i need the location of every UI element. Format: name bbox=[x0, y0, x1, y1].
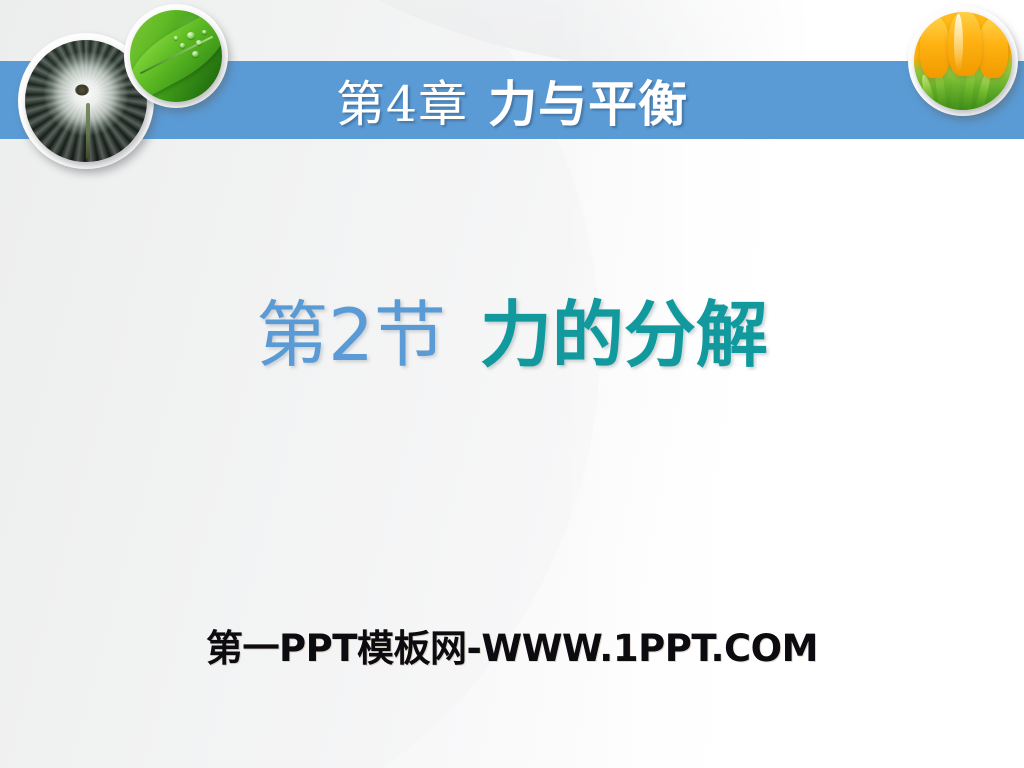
water-droplet-icon bbox=[192, 51, 199, 57]
orange-tulip-photo-icon bbox=[914, 12, 1012, 110]
tulip-petal-shape bbox=[978, 18, 1008, 78]
section-number-label: 第2节 bbox=[256, 293, 446, 377]
page-title: 第2节力的分解 bbox=[0, 298, 1024, 374]
presentation-slide: 第4章 力与平衡 第2节力的分解 第一 bbox=[0, 0, 1024, 768]
water-droplet-icon bbox=[187, 32, 195, 39]
dandelion-core-shape bbox=[75, 85, 89, 96]
dandelion-stem-shape bbox=[86, 103, 90, 159]
grass-blade-shape bbox=[920, 74, 936, 110]
chapter-topic-label: 力与平衡 bbox=[488, 65, 688, 136]
water-droplet-icon bbox=[180, 43, 185, 48]
footer-watermark: 第一PPT模板网-WWW.1PPT.COM bbox=[0, 618, 1024, 672]
water-droplet-icon bbox=[202, 30, 207, 34]
tulip-petal-shape bbox=[920, 16, 950, 78]
water-droplet-icon bbox=[196, 40, 202, 45]
green-leaf-photo-icon bbox=[130, 10, 222, 102]
section-topic-label: 力的分解 bbox=[480, 293, 768, 377]
chapter-number-label: 第4章 bbox=[336, 65, 468, 136]
water-droplet-icon bbox=[174, 36, 178, 40]
tulip-highlight-shape bbox=[954, 14, 963, 72]
